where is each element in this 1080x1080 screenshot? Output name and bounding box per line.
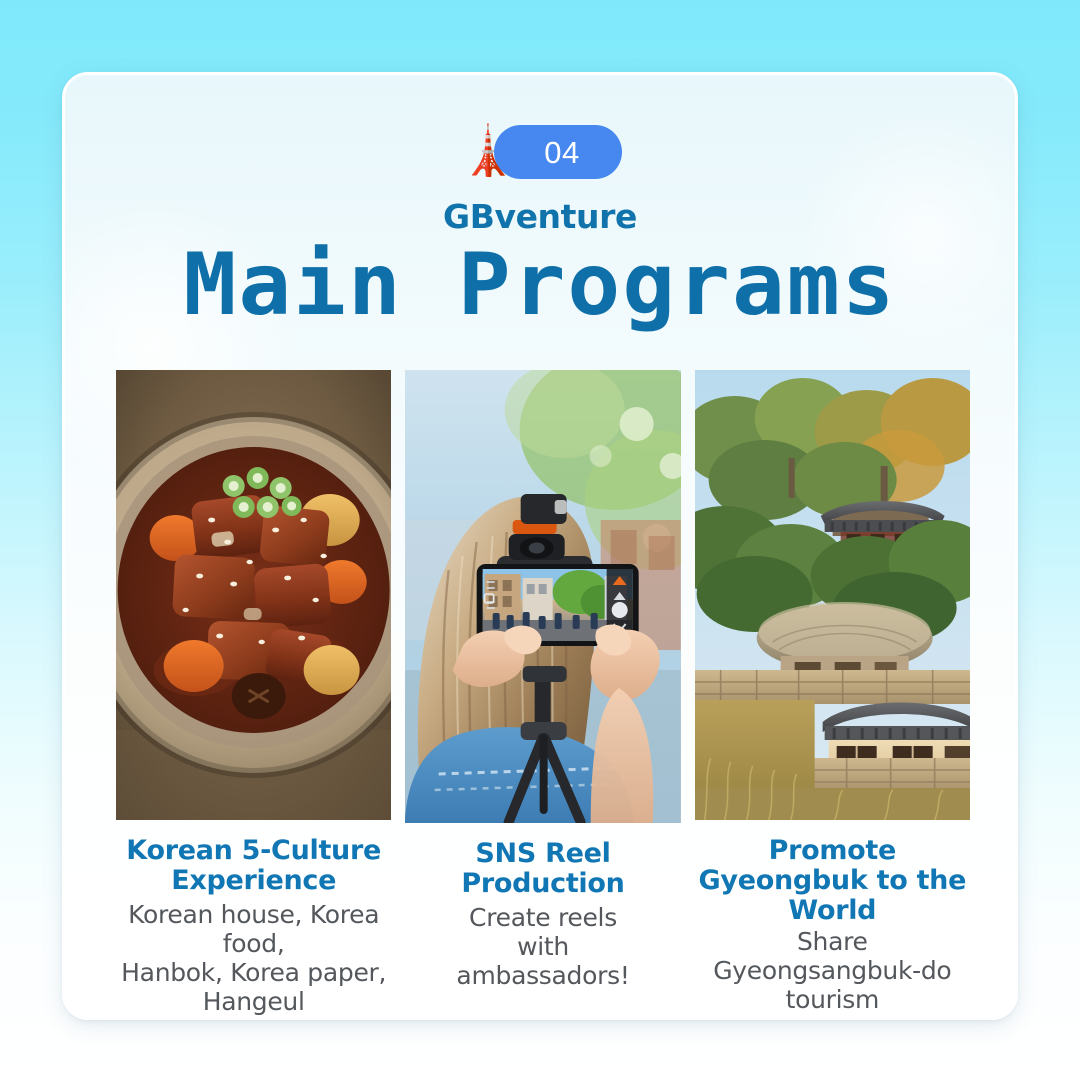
program-caption-2: SNS Reel Production Create reels with am… (405, 839, 680, 990)
program-card-2: SNS Reel Production Create reels with am… (405, 370, 680, 1020)
program-body-3: Share Gyeongsangbuk-do tourism with the … (697, 927, 968, 1020)
program-title-2: SNS Reel Production (407, 839, 678, 899)
program-body-2: Create reels with ambassadors! (407, 903, 678, 990)
program-body-1: Korean house, Korea food, Hanbok, Korea … (118, 900, 389, 1016)
card-header: 🗼 04 GBventure Main Programs (65, 75, 1015, 328)
section-number-badge: 🗼 04 (494, 125, 622, 179)
page-title: Main Programs (62, 242, 1018, 328)
program-card-1: Korean 5-Culture Experience Korean house… (116, 370, 391, 1020)
program-title-3: Promote Gyeongbuk to the World (697, 836, 968, 927)
badge-number-label: 04 (544, 137, 579, 168)
badge-row: 🗼 04 (65, 121, 1015, 183)
korean-watchtower-icon: 🗼 (458, 128, 518, 176)
program-card-3: Promote Gyeongbuk to the World Share Gye… (695, 370, 970, 1020)
gyeongbuk-hanok-village-photo (695, 370, 970, 820)
main-card: 🗼 04 GBventure Main Programs (62, 72, 1018, 1020)
program-caption-3: Promote Gyeongbuk to the World Share Gye… (695, 836, 970, 1020)
korean-braised-short-ribs-photo (116, 370, 391, 820)
program-title-1: Korean 5-Culture Experience (118, 836, 389, 896)
sns-reel-filming-photo (405, 370, 680, 823)
program-caption-1: Korean 5-Culture Experience Korean house… (116, 836, 391, 1016)
programs-row: Korean 5-Culture Experience Korean house… (116, 370, 970, 1020)
brand-label: GBventure (65, 197, 1015, 236)
